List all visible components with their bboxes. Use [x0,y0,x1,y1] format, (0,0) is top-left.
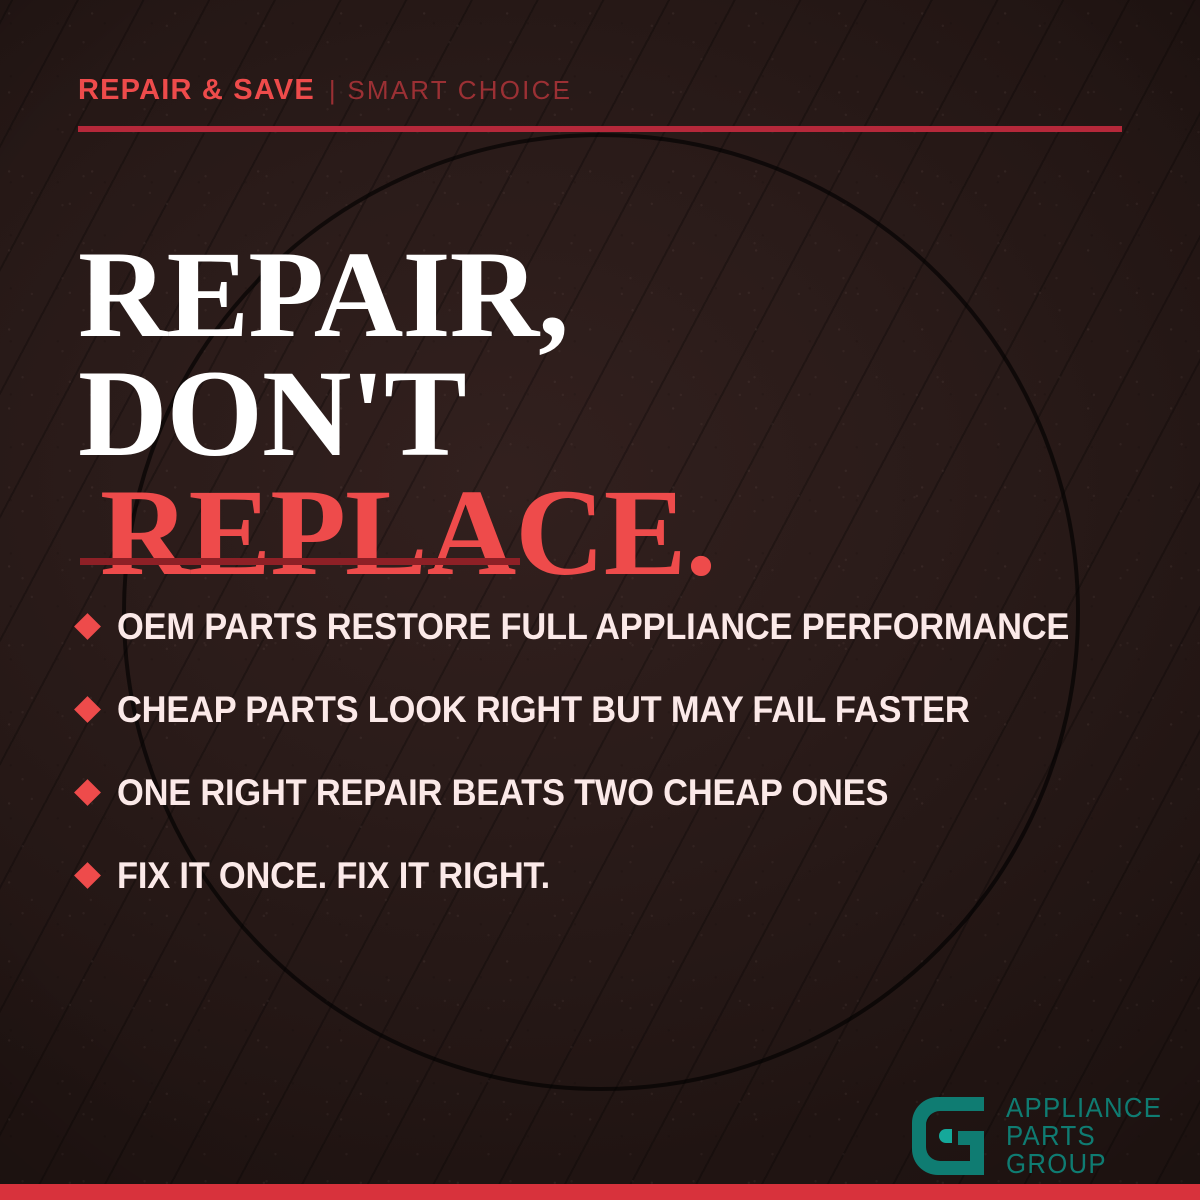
diamond-bullet-icon [74,862,101,889]
list-item-label: ONE RIGHT REPAIR BEATS TWO CHEAP ONES [117,772,888,814]
list-item: FIX IT ONCE. FIX IT RIGHT. [78,834,1138,917]
bottom-accent-bar [0,1184,1200,1200]
list-item: CHEAP PARTS LOOK RIGHT BUT MAY FAIL FAST… [78,668,1138,751]
eyebrow-main-label: REPAIR & SAVE [78,74,315,107]
eyebrow-sub-text: SMART CHOICE [347,75,572,105]
headline-line-1: REPAIR, [78,235,716,354]
list-item: OEM PARTS RESTORE FULL APPLIANCE PERFORM… [78,585,1138,668]
logo-line-2: PARTS [1006,1122,1162,1150]
list-item-label: OEM PARTS RESTORE FULL APPLIANCE PERFORM… [117,606,1069,648]
diamond-bullet-icon [74,613,101,640]
promo-poster: REPAIR & SAVE | SMART CHOICE REPAIR, DON… [0,0,1200,1200]
logo-line-3: GROUP [1006,1150,1162,1178]
page-title: REPAIR, DON'T REPLACE. [78,235,716,592]
list-item: ONE RIGHT REPAIR BEATS TWO CHEAP ONES [78,751,1138,834]
header-divider-rule [78,126,1122,132]
headline-divider-rule [80,558,520,565]
diamond-bullet-icon [74,696,101,723]
brand-logo-wordmark: APPLIANCE PARTS GROUP [1006,1094,1176,1178]
diamond-bullet-icon [74,779,101,806]
list-item-label: CHEAP PARTS LOOK RIGHT BUT MAY FAIL FAST… [117,689,970,731]
headline-line-2: DON'T [78,354,716,473]
benefits-list: OEM PARTS RESTORE FULL APPLIANCE PERFORM… [78,585,1138,917]
logo-line-1: APPLIANCE [1006,1094,1162,1122]
headline-line-3: REPLACE. [78,473,716,592]
poster-content: REPAIR & SAVE | SMART CHOICE REPAIR, DON… [0,0,1200,1200]
eyebrow-separator: | [329,75,338,105]
apg-g-monogram-icon [912,1097,992,1175]
eyebrow-sub-label: | SMART CHOICE [329,75,572,106]
eyebrow: REPAIR & SAVE | SMART CHOICE [78,74,572,107]
brand-logo: APPLIANCE PARTS GROUP [912,1094,1176,1178]
list-item-label: FIX IT ONCE. FIX IT RIGHT. [117,855,550,897]
